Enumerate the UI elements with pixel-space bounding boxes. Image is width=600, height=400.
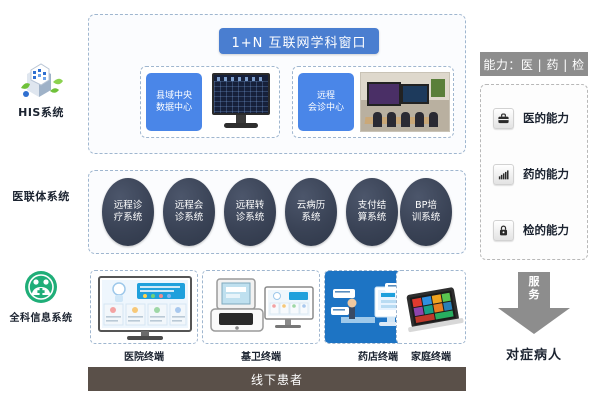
desktop-monitor-icon: [210, 73, 272, 131]
ellipse-line-1: 云病历: [297, 200, 326, 212]
arrow-text-line-2: 务: [524, 288, 544, 301]
chip-line-2: 会诊中心: [308, 102, 344, 114]
ellipse-line-1: BP培: [415, 200, 437, 212]
system-ellipse-6[interactable]: BP培 训系统: [400, 178, 452, 246]
ellipse-line-2: 训系统: [412, 212, 441, 224]
terminal-label-primary: 基卫终端: [202, 348, 320, 363]
rail-item-union: 医联体系统: [0, 188, 82, 204]
system-ellipse-4[interactable]: 云病历 系统: [285, 178, 337, 246]
capability-footer: 对症病人: [480, 344, 588, 363]
terminal-box-home[interactable]: [396, 270, 466, 344]
terminal-label-home: 家庭终端: [396, 348, 466, 363]
tv-health-screen-icon: [91, 271, 198, 344]
terminal-box-hospital[interactable]: [90, 270, 198, 344]
clinic-people-icon: [24, 270, 58, 304]
chip-line-1: 远程: [317, 90, 335, 102]
chip-remote-consult-center: 远程 会诊中心: [298, 73, 354, 131]
capability-row-medical[interactable]: 医的能力: [493, 105, 585, 131]
ellipse-line-2: 系统: [301, 212, 320, 224]
diagram-canvas: HIS系统 医联体系统 全科信息系统 1+N 互联网学科窗口: [0, 0, 600, 400]
terminal-label-hospital: 医院终端: [90, 348, 198, 363]
service-arrow: 服 务: [498, 272, 570, 334]
capability-label-pharma: 药的能力: [523, 166, 569, 182]
ellipse-line-1: 远程转: [236, 200, 265, 212]
ellipse-line-1: 远程诊: [114, 200, 143, 212]
subbox-data-center: 县域中央 数据中心: [140, 66, 280, 138]
capability-row-pharma[interactable]: 药的能力: [493, 161, 585, 187]
capability-panel: 医的能力 药的能力 检的能力: [480, 84, 588, 260]
capability-header: 能力：医 | 药 | 检: [480, 52, 588, 76]
system-ellipse-1[interactable]: 远程诊 疗系统: [102, 178, 154, 246]
conference-room-photo: [360, 72, 450, 132]
ellipse-line-2: 疗系统: [114, 212, 143, 224]
ellipse-line-2: 诊系统: [236, 212, 265, 224]
ellipse-line-1: 支付结: [358, 200, 387, 212]
rail-label-general: 全科信息系统: [0, 309, 82, 324]
left-rail: HIS系统 医联体系统 全科信息系统: [0, 0, 82, 400]
bar-chart-icon: [493, 164, 514, 185]
chip-line-2: 数据中心: [156, 102, 192, 114]
terminal-box-primary[interactable]: [202, 270, 320, 344]
rail-label-union: 医联体系统: [0, 188, 82, 204]
tablet-device-icon: [397, 271, 466, 344]
capability-label-medical: 医的能力: [523, 110, 569, 126]
ellipse-line-2: 诊系统: [175, 212, 204, 224]
offline-patient-bar: 线下患者: [88, 367, 466, 391]
ellipse-line-1: 远程会: [175, 200, 204, 212]
arrow-text-line-1: 服: [524, 275, 544, 288]
panel-title-chip: 1+N 互联网学科窗口: [219, 28, 379, 54]
rail-item-general: 全科信息系统: [0, 270, 82, 324]
capability-label-inspect: 检的能力: [523, 222, 569, 238]
capability-row-inspect[interactable]: 检的能力: [493, 217, 585, 243]
system-ellipse-3[interactable]: 远程转 诊系统: [224, 178, 276, 246]
rail-item-his: HIS系统: [0, 58, 82, 120]
rail-label-his: HIS系统: [0, 104, 82, 120]
chip-county-data-center: 县域中央 数据中心: [146, 73, 202, 131]
system-ellipse-2[interactable]: 远程会 诊系统: [163, 178, 215, 246]
kiosk-and-monitor-icon: [203, 271, 320, 344]
subbox-remote-consult: 远程 会诊中心: [292, 66, 454, 138]
hospital-building-icon: [17, 58, 65, 100]
ellipse-line-2: 算系统: [358, 212, 387, 224]
chip-line-1: 县域中央: [156, 90, 192, 102]
briefcase-icon: [493, 108, 514, 129]
lock-icon: [493, 220, 514, 241]
system-ellipse-5[interactable]: 支付结 算系统: [346, 178, 398, 246]
